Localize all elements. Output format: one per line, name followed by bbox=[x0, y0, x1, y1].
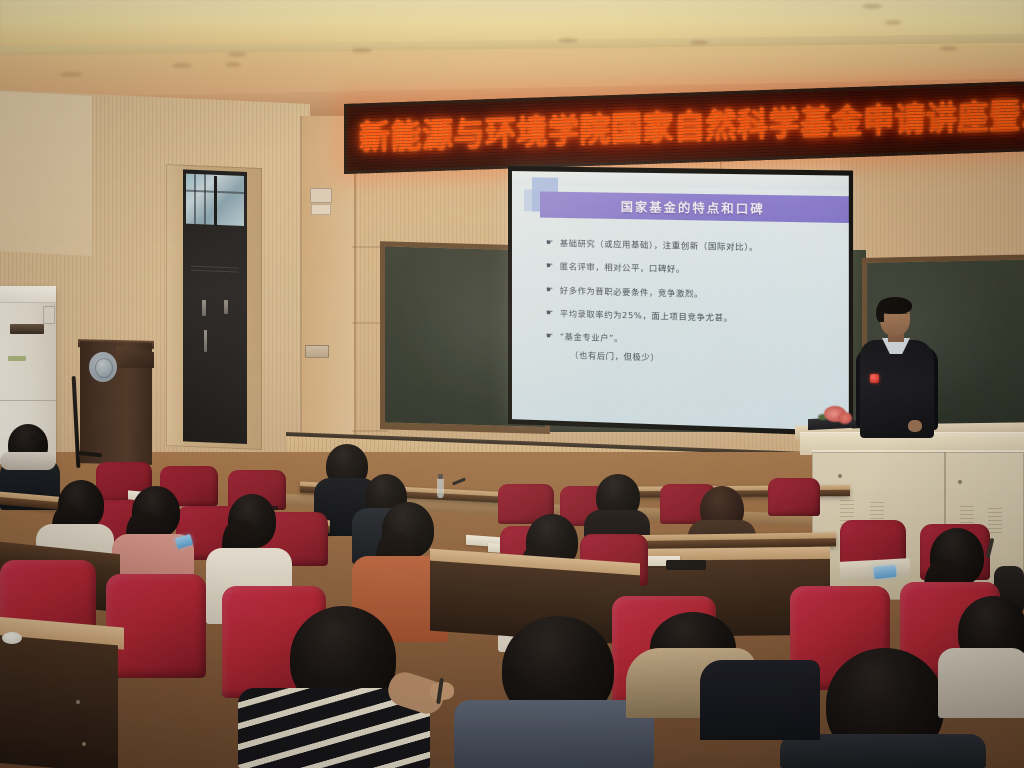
presenter-hair bbox=[878, 297, 912, 314]
water-bottle bbox=[437, 478, 444, 498]
ceiling-vent-icon bbox=[885, 20, 901, 25]
slide-bullet-text: 匿名评审，相对公平，口碑好。 bbox=[560, 261, 685, 274]
wall-switch-plate[interactable] bbox=[310, 188, 332, 203]
wall-seam bbox=[352, 430, 388, 432]
bullet-marker-icon: ☛ bbox=[546, 238, 554, 248]
slide-title-bar: 国家基金的特点和口碑 bbox=[540, 191, 849, 223]
attendee-torso bbox=[454, 700, 654, 768]
attendee-torso bbox=[700, 660, 820, 740]
ceiling-vent-icon bbox=[172, 63, 192, 68]
desk-screw bbox=[76, 700, 80, 704]
ceiling-vent-icon bbox=[862, 4, 882, 9]
door-mullion bbox=[214, 176, 217, 226]
front-desk-panel bbox=[0, 635, 118, 768]
slide-bullet-text: 平均录取率约为25%，面上项目竞争尤甚。 bbox=[560, 308, 733, 323]
slide-bullet: ☛ 好多作为晋职必要条件，竞争激烈。 bbox=[546, 284, 830, 301]
slide-bullet-text: “基金专业户”。 bbox=[560, 331, 623, 343]
projection-screen: 国家基金的特点和口碑 ☛ 基础研究（或应用基础），注重创新（国际对比）。 ☛ 匿… bbox=[512, 171, 849, 431]
bag-on-desk bbox=[666, 560, 706, 570]
slide-bullet-text: 基础研究（或应用基础），注重创新（国际对比）。 bbox=[560, 238, 758, 252]
wall-switch-plate[interactable] bbox=[311, 204, 331, 215]
presenter-badge-icon bbox=[870, 374, 879, 383]
ceiling-vent-icon bbox=[940, 46, 958, 51]
desk-screw bbox=[82, 742, 86, 746]
smartphone[interactable] bbox=[873, 565, 896, 579]
attendee-torso bbox=[938, 648, 1024, 718]
presenter-jacket bbox=[860, 340, 934, 438]
slide-bullet: ☛ “基金专业户”。 bbox=[546, 331, 830, 349]
ceiling-vent-icon bbox=[558, 38, 578, 43]
air-conditioner-control-panel[interactable] bbox=[43, 306, 55, 324]
slide-bullet: ☛ 基础研究（或应用基础），注重创新（国际对比）。 bbox=[546, 238, 830, 254]
slide-title: 国家基金的特点和口碑 bbox=[621, 197, 765, 217]
air-conditioner-top-vent bbox=[0, 286, 56, 303]
door-handle[interactable] bbox=[204, 330, 207, 352]
ceiling-vent-icon bbox=[60, 72, 82, 77]
bullet-marker-icon: ☛ bbox=[546, 308, 554, 318]
projection-screen-frame: 国家基金的特点和口碑 ☛ 基础研究（或应用基础），注重创新（国际对比）。 ☛ 匿… bbox=[508, 166, 853, 436]
door-handle[interactable] bbox=[224, 300, 228, 314]
seat[interactable] bbox=[768, 478, 820, 516]
bullet-marker-icon: ☛ bbox=[546, 331, 554, 341]
bullet-marker-icon: ☛ bbox=[546, 284, 554, 294]
slide-body: ☛ 基础研究（或应用基础），注重创新（国际对比）。 ☛ 匿名评审，相对公平，口碑… bbox=[512, 229, 849, 431]
presenter-glasses-icon bbox=[881, 313, 908, 320]
eyeglasses-icon bbox=[262, 506, 278, 510]
slide-bullet: ☛ 平均录取率约为25%，面上项目竞争尤甚。 bbox=[546, 308, 830, 326]
air-conditioner-seam bbox=[0, 400, 56, 401]
slide-top-strip bbox=[512, 171, 849, 190]
wall-outlet[interactable] bbox=[305, 345, 329, 358]
lecture-hall-photo: 新能源与环境学院国家自然科学基金申请讲座暨2020科技工作会 国家基金的特点和口… bbox=[0, 0, 1024, 768]
flowers-on-lectern bbox=[838, 412, 852, 424]
university-emblem-ring-icon bbox=[95, 358, 113, 378]
air-conditioner-badge bbox=[8, 356, 26, 361]
slide-note-text: （也有后门，但极少） bbox=[570, 349, 830, 369]
wall-left-upper bbox=[0, 91, 92, 256]
presenter-hand bbox=[908, 420, 922, 432]
eyeglasses-icon bbox=[30, 436, 44, 440]
seat[interactable] bbox=[106, 574, 206, 678]
door-handle[interactable] bbox=[202, 300, 206, 316]
ceiling-vent-icon bbox=[228, 52, 246, 57]
fur-collar bbox=[0, 452, 56, 470]
air-conditioner-outlet-icon bbox=[10, 324, 44, 334]
slide-bullet-text: 好多作为晋职必要条件，竞争激烈。 bbox=[560, 285, 703, 299]
bottle-cap-icon bbox=[438, 474, 443, 479]
presenter bbox=[856, 300, 942, 436]
bullet-marker-icon: ☛ bbox=[546, 261, 554, 271]
ceiling-vent-icon bbox=[690, 40, 708, 45]
ceiling-vent-icon bbox=[352, 48, 372, 53]
ceiling-vent-icon bbox=[225, 62, 241, 67]
cup-on-desk bbox=[2, 632, 22, 644]
slide-bullet: ☛ 匿名评审，相对公平，口碑好。 bbox=[546, 261, 830, 278]
